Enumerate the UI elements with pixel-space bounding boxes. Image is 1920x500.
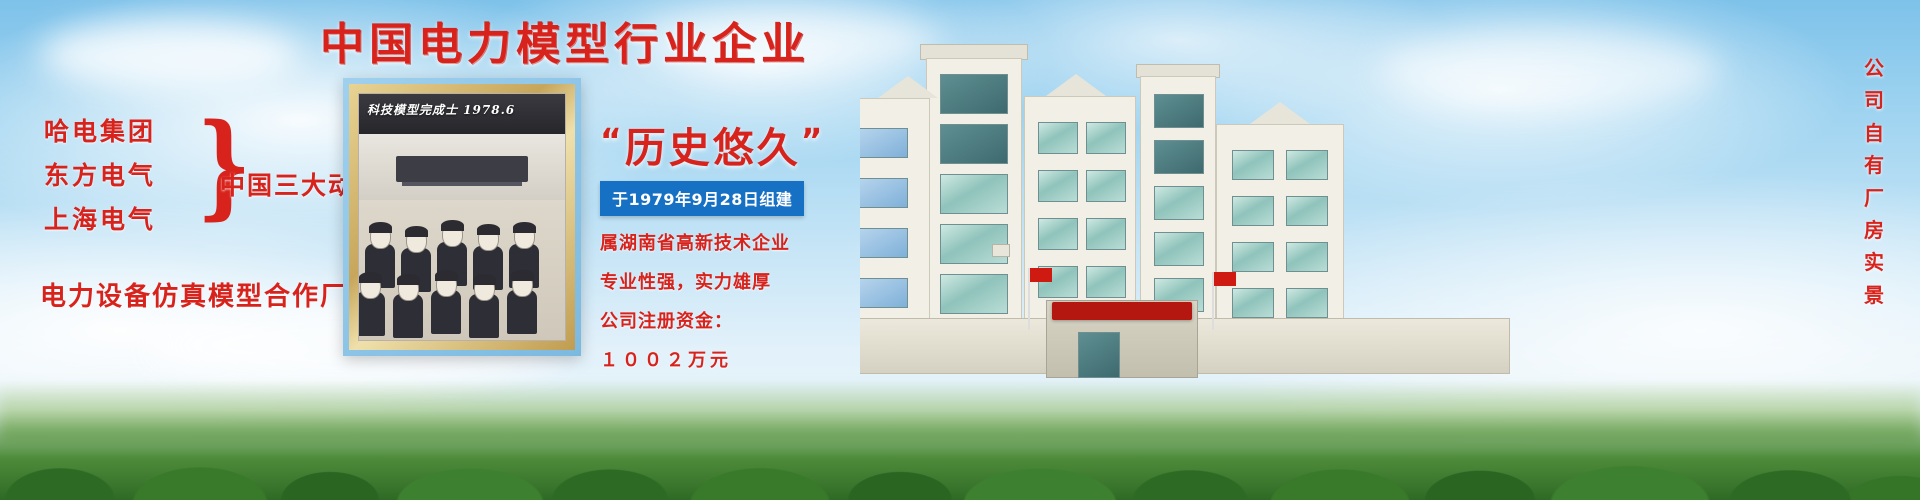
- photo-caption: 科技模型完成士 1978.6: [367, 101, 557, 127]
- left-text-block: 哈电集团 东方电气 上海电气 } 中国三大动力 电力设备仿真模型合作厂家: [30, 108, 375, 228]
- gable-roof: [1046, 74, 1106, 96]
- slogan-text: 历史悠久: [625, 124, 801, 172]
- window: [860, 278, 908, 308]
- vertical-char: 实: [1864, 246, 1886, 278]
- gate-sign: [1052, 302, 1192, 320]
- person-head: [478, 226, 499, 251]
- window: [860, 178, 908, 208]
- photo-desk: [396, 156, 528, 182]
- red-flag-icon: [1030, 268, 1052, 282]
- window: [1154, 140, 1204, 174]
- window: [940, 174, 1008, 214]
- cooperation-line: 电力设备仿真模型合作厂家: [40, 276, 376, 313]
- window: [1232, 242, 1274, 272]
- person-head: [436, 272, 457, 297]
- window: [940, 124, 1008, 164]
- window: [1038, 170, 1078, 202]
- photo-gold-border: 科技模型完成士 1978.6: [349, 84, 575, 350]
- center-copy-block: “历史悠久” 于1979年9月28日组建 属湖南省高新技术企业 专业性强，实力雄…: [600, 124, 860, 372]
- person-head: [514, 224, 535, 249]
- brand-item: 东方电气: [44, 156, 156, 192]
- window: [1286, 288, 1328, 318]
- window: [1286, 150, 1328, 180]
- person-head: [360, 274, 381, 299]
- photo-crowd: [359, 190, 565, 340]
- window: [1086, 266, 1126, 298]
- vertical-char: 房: [1864, 214, 1886, 246]
- window: [1154, 232, 1204, 266]
- founding-date-badge: 于1979年9月28日组建: [600, 181, 804, 216]
- window: [860, 228, 908, 258]
- promo-banner: 中国电力模型行业企业 哈电集团 东方电气 上海电气 } 中国三大动力 电力设备仿…: [0, 0, 1920, 500]
- window: [1038, 122, 1078, 154]
- perimeter-wall: [1190, 318, 1510, 374]
- person-head: [512, 272, 533, 297]
- window: [1154, 186, 1204, 220]
- copy-line: 公司注册资金：: [600, 307, 860, 333]
- vertical-char: 厂: [1864, 182, 1886, 214]
- gate-door: [1078, 332, 1120, 378]
- person-head: [442, 222, 463, 247]
- window: [1038, 218, 1078, 250]
- person-head: [370, 224, 391, 249]
- vintage-group-photo: 科技模型完成士 1978.6: [358, 93, 566, 341]
- brand-list: 哈电集团 东方电气 上海电气 } 中国三大动力: [30, 108, 375, 228]
- registered-capital-value: １００２万元: [600, 346, 860, 372]
- window: [1232, 196, 1274, 226]
- window: [940, 274, 1008, 314]
- window: [1086, 218, 1126, 250]
- window: [860, 128, 908, 158]
- quote-open: “: [600, 121, 625, 160]
- perimeter-wall: [860, 318, 1060, 374]
- brand-item: 上海电气: [44, 200, 156, 236]
- window: [1286, 196, 1328, 226]
- window: [1086, 122, 1126, 154]
- person-head: [474, 276, 495, 301]
- quote-close: ”: [801, 121, 826, 160]
- person-head: [406, 228, 427, 253]
- window: [1086, 170, 1126, 202]
- brand-item: 哈电集团: [44, 112, 156, 148]
- vertical-char: 有: [1864, 149, 1886, 181]
- copy-line: 属湖南省高新技术企业: [600, 229, 860, 255]
- gable-roof: [1250, 102, 1310, 124]
- vertical-char: 司: [1864, 84, 1886, 116]
- vertical-char: 景: [1864, 279, 1886, 311]
- air-conditioner-unit: [992, 244, 1010, 257]
- window: [1154, 94, 1204, 128]
- factory-building-photo: [860, 0, 1620, 430]
- slogan-line: “历史悠久”: [600, 124, 860, 169]
- person-head: [398, 276, 419, 301]
- vertical-caption: 公 司 自 有 厂 房 实 景: [1864, 52, 1886, 311]
- vintage-photo-frame: 科技模型完成士 1978.6: [343, 78, 581, 356]
- window: [1286, 242, 1328, 272]
- window: [1232, 150, 1274, 180]
- window: [1232, 288, 1274, 318]
- red-flag-icon: [1214, 272, 1236, 286]
- gable-roof: [878, 76, 938, 98]
- copy-line: 专业性强，实力雄厚: [600, 268, 860, 294]
- vertical-char: 自: [1864, 117, 1886, 149]
- window: [940, 74, 1008, 114]
- vertical-char: 公: [1864, 52, 1886, 84]
